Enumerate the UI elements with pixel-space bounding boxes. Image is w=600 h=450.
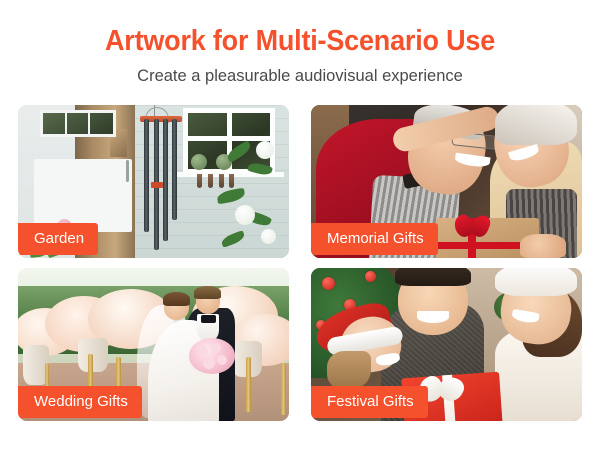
scenario-card-wedding-gifts[interactable]: Wedding Gifts: [18, 268, 289, 421]
wind-chime-tube: [163, 119, 168, 241]
gift-bow: [455, 215, 489, 241]
gold-stand: [246, 357, 251, 412]
door-window: [40, 110, 116, 138]
card-badge-festival-gifts[interactable]: Festival Gifts: [311, 386, 428, 418]
bouquet-rose: [197, 346, 208, 357]
girl-hair: [327, 351, 370, 391]
door-handle: [126, 160, 129, 182]
bouquet-rose: [203, 357, 215, 369]
scenario-grid: Garden Memorial Gifts: [18, 105, 582, 413]
man-hair: [395, 268, 471, 286]
leaf: [216, 188, 246, 205]
page-header: Artwork for Multi-Scenario Use Create a …: [0, 0, 600, 87]
page-title: Artwork for Multi-Scenario Use: [21, 26, 579, 58]
bouquet-rose: [211, 343, 221, 353]
card-badge-wedding-gifts[interactable]: Wedding Gifts: [18, 386, 142, 418]
man-smile: [417, 311, 450, 323]
woman-hair: [495, 105, 576, 145]
white-flower: [256, 141, 274, 159]
ornament-icon: [322, 277, 335, 290]
page-subtitle: Create a pleasurable audiovisual experie…: [0, 67, 600, 87]
hanging-plant: [197, 174, 202, 188]
garden-bush: [208, 139, 289, 258]
leaf: [225, 141, 253, 164]
scenario-card-festival-gifts[interactable]: Festival Gifts: [311, 268, 582, 421]
bride-hair: [163, 292, 190, 306]
leaf: [220, 230, 246, 248]
wind-chime-tube: [172, 119, 177, 220]
bouquet-rose: [217, 355, 227, 365]
white-flower: [261, 229, 276, 244]
woman-white-hat: [495, 268, 576, 296]
card-badge-garden[interactable]: Garden: [18, 223, 98, 255]
hand: [520, 234, 566, 258]
wind-chime-clapper: [151, 182, 163, 188]
wind-chime-tube: [144, 119, 149, 232]
bow-tie-icon: [201, 315, 216, 323]
gold-stand: [281, 363, 286, 415]
card-badge-memorial-gifts[interactable]: Memorial Gifts: [311, 223, 438, 255]
leaf: [247, 161, 273, 177]
scenario-card-garden[interactable]: Garden: [18, 105, 289, 258]
scenario-card-memorial-gifts[interactable]: Memorial Gifts: [311, 105, 582, 258]
bridal-bouquet: [189, 338, 235, 373]
groom-hair: [194, 286, 221, 298]
white-flower: [235, 205, 255, 225]
